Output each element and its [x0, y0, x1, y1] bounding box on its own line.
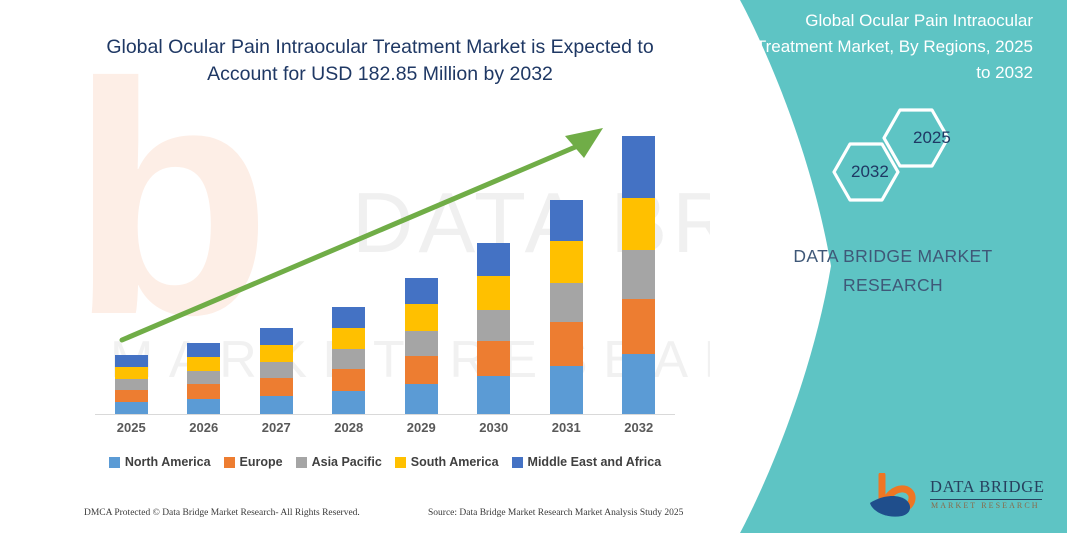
bar-segment — [477, 310, 510, 341]
bar-segment — [115, 355, 148, 367]
x-axis-label-2025: 2025 — [115, 420, 148, 435]
bar-segment — [622, 198, 655, 250]
bar-segment — [332, 328, 365, 349]
legend-item-south-america[interactable]: South America — [395, 455, 499, 469]
bar-segment — [405, 331, 438, 356]
bar-segment — [115, 390, 148, 402]
bar-segment — [115, 379, 148, 390]
legend-item-europe[interactable]: Europe — [224, 455, 283, 469]
bar-column-2027[interactable] — [260, 328, 293, 415]
legend-swatch-icon — [512, 457, 523, 468]
bar-segment — [550, 283, 583, 322]
bar-segment — [550, 200, 583, 241]
legend-item-middle-east-and-africa[interactable]: Middle East and Africa — [512, 455, 662, 469]
hexagon-label-2025: 2025 — [913, 128, 951, 148]
bar-column-2029[interactable] — [405, 278, 438, 415]
bar-column-2031[interactable] — [550, 200, 583, 415]
bar-segment — [187, 399, 220, 415]
infographic-root: b DATA BRIDGE MARKET RESEARCH Global Ocu… — [0, 0, 1067, 533]
logo-name-top: DATA BRIDGE — [930, 477, 1045, 497]
bar-segment — [477, 276, 510, 310]
bar-segment — [550, 322, 583, 366]
logo-divider — [930, 499, 1042, 500]
legend-swatch-icon — [296, 457, 307, 468]
panel-brand-text: DATA BRIDGE MARKET RESEARCH — [763, 242, 1023, 300]
hexagon-pair-icon — [828, 106, 988, 206]
bar-segment — [405, 304, 438, 331]
chart-legend: North AmericaEuropeAsia PacificSouth Ame… — [95, 455, 675, 469]
bar-column-2025[interactable] — [115, 355, 148, 415]
brand-logo: DATA BRIDGE MARKET RESEARCH — [868, 473, 1048, 521]
legend-item-asia-pacific[interactable]: Asia Pacific — [296, 455, 382, 469]
bar-segment — [332, 349, 365, 369]
bar-segment — [405, 278, 438, 304]
hexagon-label-2032: 2032 — [851, 162, 889, 182]
bar-segment — [477, 243, 510, 276]
panel-title: Global Ocular Pain Intraocular Treatment… — [743, 8, 1033, 86]
bar-segment — [260, 396, 293, 415]
bar-segment — [405, 384, 438, 415]
bar-column-2026[interactable] — [187, 343, 220, 415]
bar-segment — [332, 369, 365, 391]
x-axis-label-2031: 2031 — [550, 420, 583, 435]
bar-segment — [187, 384, 220, 399]
stacked-bar-chart — [95, 120, 675, 415]
bar-column-2028[interactable] — [332, 307, 365, 415]
x-axis-labels: 20252026202720282029203020312032 — [95, 420, 675, 442]
legend-label: South America — [411, 455, 499, 469]
footer-copyright: DMCA Protected © Data Bridge Market Rese… — [84, 508, 360, 518]
bar-segment — [115, 367, 148, 379]
logo-name-bottom: MARKET RESEARCH — [931, 501, 1040, 510]
legend-label: Middle East and Africa — [528, 455, 662, 469]
page-title: Global Ocular Pain Intraocular Treatment… — [76, 34, 684, 88]
bar-segment — [187, 371, 220, 384]
bar-segment — [622, 250, 655, 299]
x-axis-label-2032: 2032 — [622, 420, 655, 435]
bar-segment — [622, 136, 655, 198]
bar-column-2032[interactable] — [622, 136, 655, 415]
bar-segment — [260, 362, 293, 378]
bar-segment — [187, 357, 220, 371]
bar-segment — [622, 354, 655, 415]
bar-segment — [550, 366, 583, 415]
bar-segment — [332, 391, 365, 415]
bar-segment — [405, 356, 438, 384]
x-axis-line — [95, 414, 675, 415]
bar-segment — [260, 378, 293, 396]
bar-segment — [332, 307, 365, 328]
legend-swatch-icon — [109, 457, 120, 468]
x-axis-label-2027: 2027 — [260, 420, 293, 435]
legend-label: Europe — [240, 455, 283, 469]
x-axis-label-2030: 2030 — [477, 420, 510, 435]
x-axis-label-2028: 2028 — [332, 420, 365, 435]
x-axis-label-2029: 2029 — [405, 420, 438, 435]
legend-label: North America — [125, 455, 211, 469]
x-axis-label-2026: 2026 — [187, 420, 220, 435]
bar-segment — [187, 343, 220, 357]
bar-segment — [260, 345, 293, 362]
legend-swatch-icon — [224, 457, 235, 468]
bar-segment — [550, 241, 583, 283]
legend-label: Asia Pacific — [312, 455, 382, 469]
bar-segment — [477, 341, 510, 376]
bar-column-2030[interactable] — [477, 243, 510, 415]
bar-segment — [622, 299, 655, 354]
legend-item-north-america[interactable]: North America — [109, 455, 211, 469]
footer-source: Source: Data Bridge Market Research Mark… — [428, 508, 683, 518]
bar-segment — [260, 328, 293, 345]
legend-swatch-icon — [395, 457, 406, 468]
data-bridge-logo-icon — [868, 473, 924, 519]
bar-segment — [477, 376, 510, 415]
